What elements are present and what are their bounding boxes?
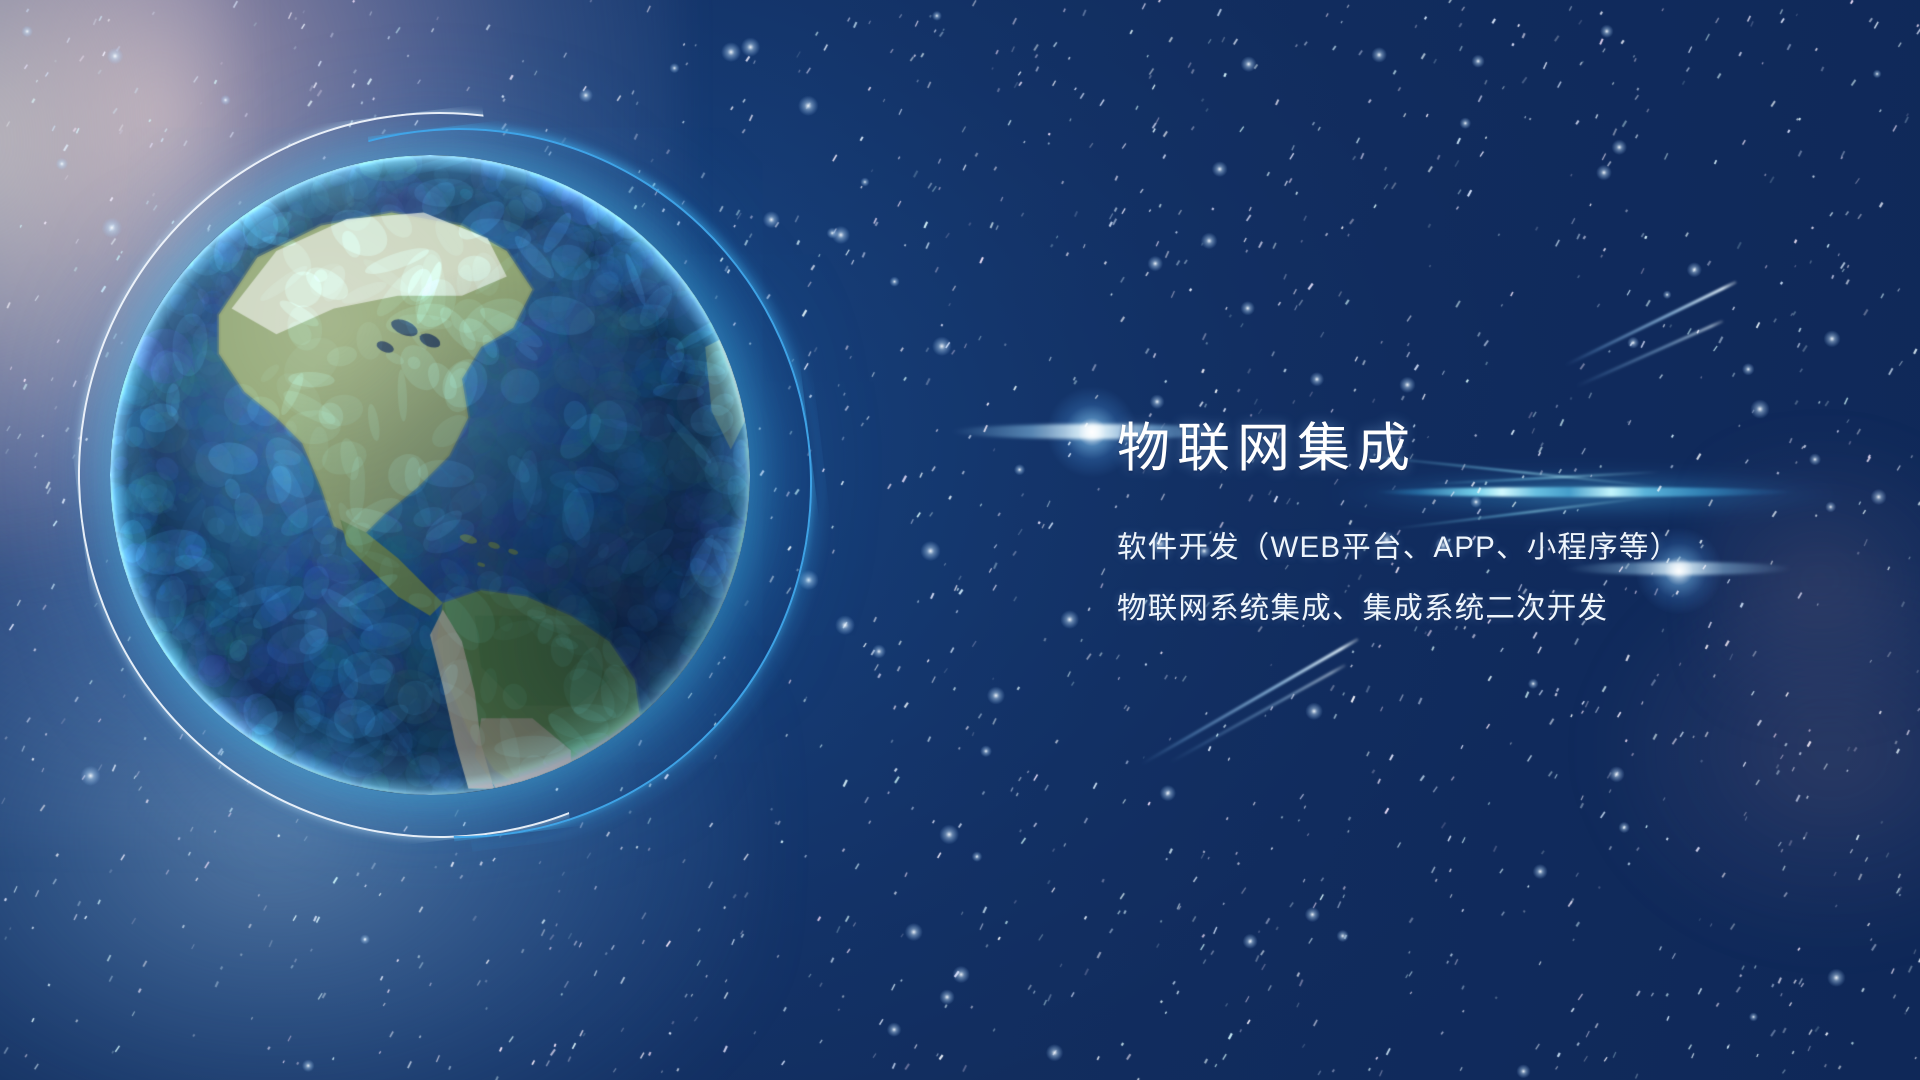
banner-copy: 物联网集成 软件开发（WEB平台、APP、小程序等） 物联网系统集成、集成系统二… xyxy=(1117,420,1837,627)
hero-banner: 物联网集成 软件开发（WEB平台、APP、小程序等） 物联网系统集成、集成系统二… xyxy=(0,0,1920,1080)
earth-globe xyxy=(110,155,750,795)
banner-subtitle-line-2: 物联网系统集成、集成系统二次开发 xyxy=(1117,585,1837,627)
globe-sphere xyxy=(110,155,750,795)
page-title: 物联网集成 xyxy=(1117,420,1837,477)
banner-subtitle-line-1: 软件开发（WEB平台、APP、小程序等） xyxy=(1117,524,1837,566)
